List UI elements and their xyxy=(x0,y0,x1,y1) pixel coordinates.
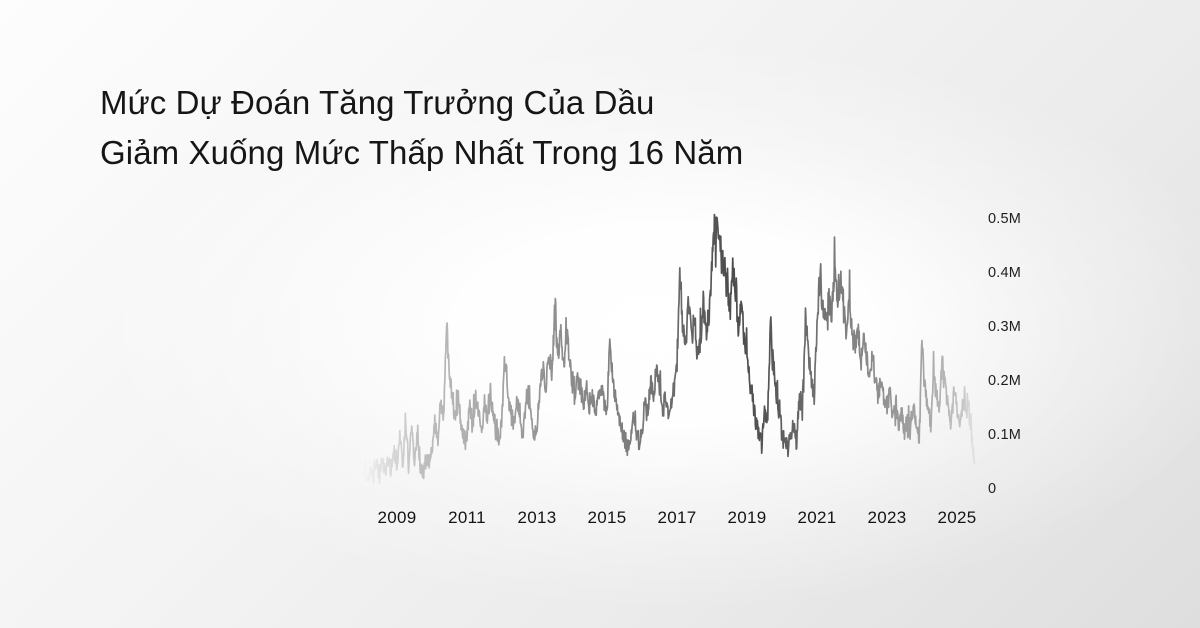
x-axis-tick-2: 2013 xyxy=(517,508,556,528)
x-axis-tick-4: 2017 xyxy=(657,508,696,528)
y-axis-tick-2: 0.3M xyxy=(988,319,1021,335)
y-axis-tick-3: 0.2M xyxy=(988,373,1021,389)
chart-plot-area xyxy=(362,215,975,484)
x-axis-tick-3: 2015 xyxy=(587,508,626,528)
series-line-oil-growth xyxy=(362,215,975,484)
x-axis-tick-6: 2021 xyxy=(797,508,836,528)
x-axis-tick-0: 2009 xyxy=(377,508,416,528)
x-axis-tick-1: 2011 xyxy=(448,508,486,528)
x-axis-tick-7: 2023 xyxy=(867,508,906,528)
x-axis-tick-8: 2025 xyxy=(937,508,976,528)
y-axis-tick-1: 0.4M xyxy=(988,265,1021,281)
y-axis-tick-0: 0.5M xyxy=(988,211,1021,227)
y-axis-tick-4: 0.1M xyxy=(988,427,1021,443)
x-axis-tick-5: 2019 xyxy=(727,508,766,528)
page-root: Mức Dự Đoán Tăng Trưởng Của Dầu Giảm Xuố… xyxy=(0,0,1200,628)
line-chart xyxy=(0,0,1200,628)
y-axis-tick-5: 0 xyxy=(988,481,996,497)
